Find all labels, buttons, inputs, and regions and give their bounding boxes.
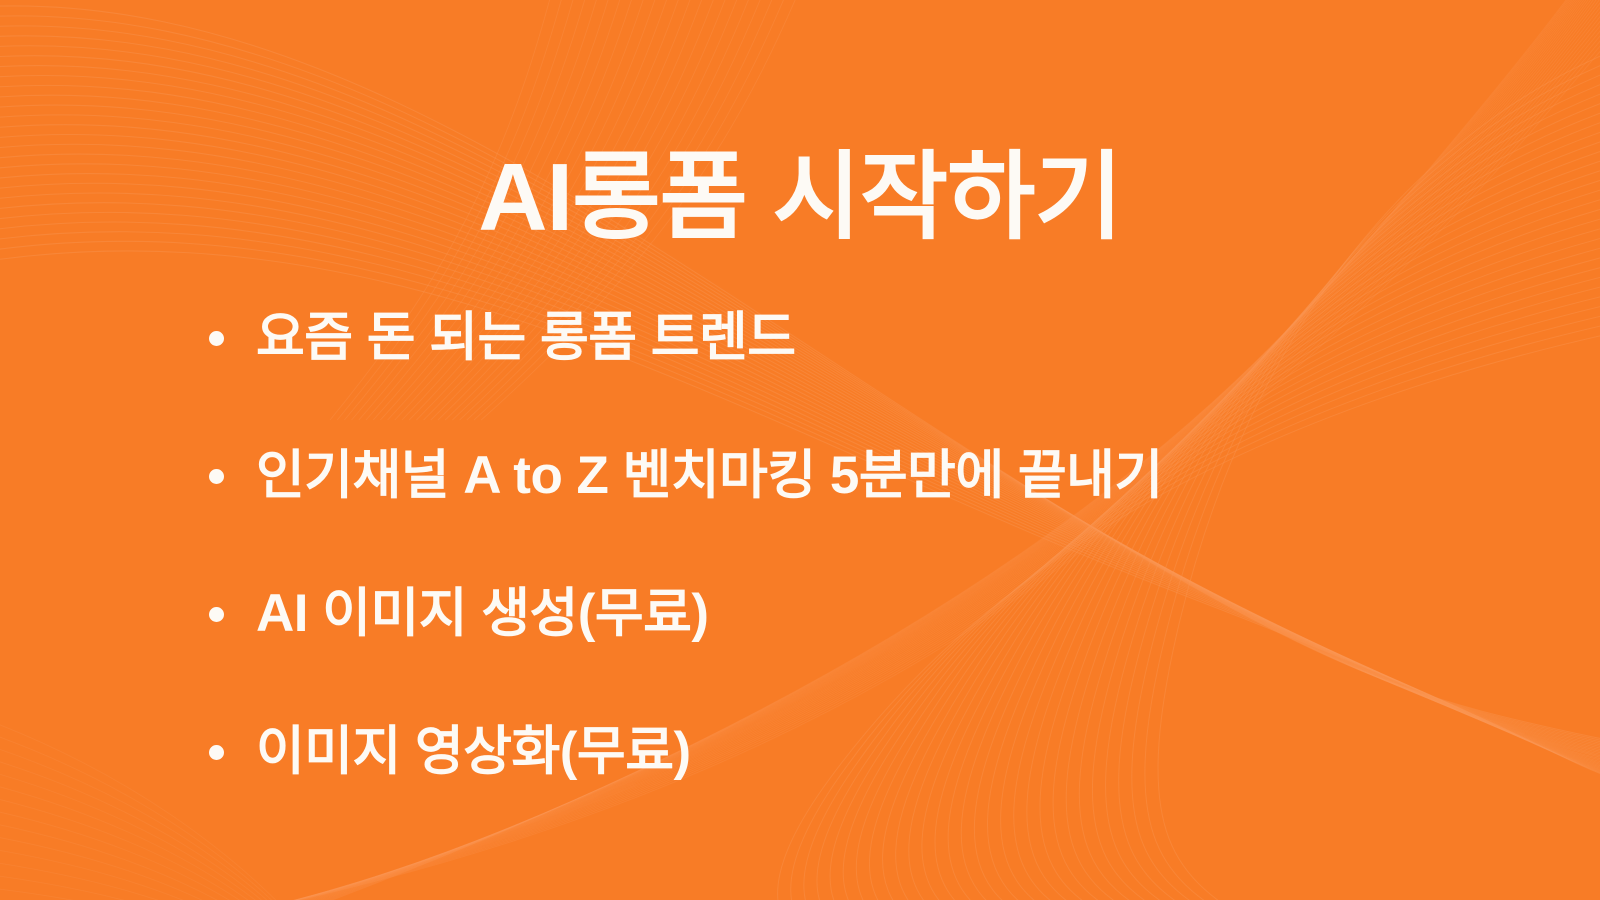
list-item: 인기채널 A to Z 벤치마킹 5분만에 끝내기	[200, 438, 1530, 514]
bullet-dot-icon	[209, 469, 224, 484]
list-item-label: 이미지 영상화(무료)	[256, 722, 691, 781]
list-item-label: AI 이미지 생성(무료)	[256, 584, 709, 643]
list-item-label: 요즘 돈 되는 롱폼 트렌드	[256, 308, 796, 367]
presentation-slide: AI롱폼 시작하기 요즘 돈 되는 롱폼 트렌드 인기채널 A to Z 벤치마…	[0, 0, 1600, 900]
bullet-dot-icon	[209, 607, 224, 622]
list-item: AI 이미지 생성(무료)	[200, 576, 1530, 652]
list-item: 이미지 영상화(무료)	[200, 714, 1530, 790]
page-title: AI롱폼 시작하기	[0, 148, 1600, 249]
slide-content: AI롱폼 시작하기 요즘 돈 되는 롱폼 트렌드 인기채널 A to Z 벤치마…	[0, 0, 1600, 900]
list-item-label: 인기채널 A to Z 벤치마킹 5분만에 끝내기	[256, 446, 1163, 505]
list-item: 요즘 돈 되는 롱폼 트렌드	[200, 300, 1530, 376]
bullet-dot-icon	[209, 331, 224, 346]
bullet-list: 요즘 돈 되는 롱폼 트렌드 인기채널 A to Z 벤치마킹 5분만에 끝내기…	[200, 300, 1530, 790]
bullet-dot-icon	[209, 745, 224, 760]
